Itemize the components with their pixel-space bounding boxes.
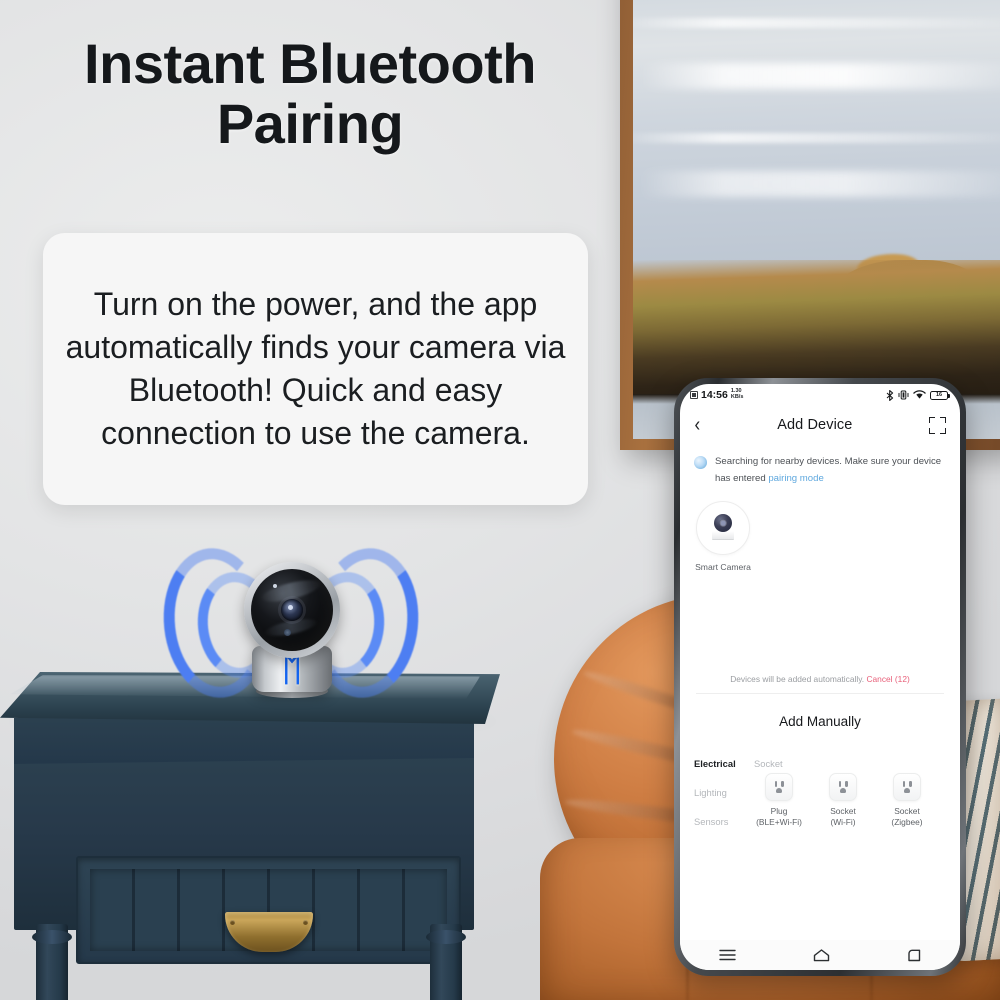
product-label-line2: (Zigbee) [891, 817, 922, 827]
auto-add-note: Devices will be added automatically. Can… [680, 674, 960, 693]
loading-spinner-icon [694, 456, 707, 469]
painting-sky [633, 0, 1000, 299]
pairing-mode-link[interactable]: pairing mode [768, 473, 823, 484]
status-bar: 14:56 1.30 KB/s 16 [680, 384, 960, 406]
vibrate-icon [898, 390, 909, 400]
callout-text: Turn on the power, and the app automatic… [43, 283, 588, 456]
camera-lens-housing [251, 569, 333, 651]
battery-icon: 16 [930, 391, 948, 400]
socket-icon [893, 773, 921, 801]
found-device-smart-camera[interactable]: Smart Camera [694, 501, 752, 574]
phone-screen: 14:56 1.30 KB/s 16 [680, 384, 960, 970]
nightstand [0, 672, 520, 1000]
product-label-line1: Socket [894, 806, 920, 816]
home-icon[interactable] [813, 949, 830, 962]
bluetooth-icon [886, 390, 894, 401]
found-devices-grid: Smart Camera [680, 487, 960, 574]
manual-add-panel: Electrical Lighting Sensors Socket Plug(… [680, 749, 960, 840]
phone-mockup: 14:56 1.30 KB/s 16 [674, 378, 966, 976]
searching-status: Searching for nearby devices. Make sure … [680, 444, 960, 487]
socket-icon [829, 773, 857, 801]
wifi-icon [913, 390, 926, 400]
found-device-label: Smart Camera [695, 562, 751, 574]
product-group-header: Socket [752, 749, 952, 771]
searching-text: Searching for nearby devices. Make sure … [715, 456, 941, 484]
auto-add-text: Devices will be added automatically. [730, 674, 864, 684]
category-item-electrical[interactable]: Electrical [694, 749, 752, 778]
menu-icon[interactable] [719, 949, 736, 961]
product-socket-zigbee[interactable]: Socket(Zigbee) [880, 773, 934, 829]
product-list: Socket Plug(BLE+Wi-Fi) Socket(Wi-Fi) Soc… [752, 749, 960, 836]
nightstand-leg-left [36, 924, 68, 1000]
product-label-line2: (Wi-Fi) [830, 817, 855, 827]
smart-camera-product: ᛖ [168, 544, 414, 716]
qr-scan-icon[interactable] [929, 417, 946, 434]
smart-camera-icon [696, 501, 750, 555]
camera-lens-icon [281, 599, 303, 621]
camera-ir-sensor-icon [284, 629, 291, 636]
socket-icon [765, 773, 793, 801]
cancel-button[interactable]: Cancel [866, 674, 892, 684]
category-item-lighting[interactable]: Lighting [694, 778, 752, 807]
product-label-line2: (BLE+Wi-Fi) [756, 817, 802, 827]
nightstand-leg-right [430, 924, 462, 1000]
category-list: Electrical Lighting Sensors [680, 749, 752, 836]
page-title-add-device: Add Device [777, 417, 852, 433]
android-nav-bar [680, 940, 960, 970]
searching-status-text: Searching for nearby devices. Make sure … [715, 454, 946, 487]
app-bar: ‹ Add Device [680, 406, 960, 444]
product-label-line1: Socket [830, 806, 856, 816]
product-label-line1: Plug [771, 806, 788, 816]
battery-level: 16 [936, 392, 942, 398]
painting-canvas [633, 0, 1000, 439]
back-icon[interactable] [907, 949, 922, 962]
status-bar-time: 14:56 [701, 389, 728, 401]
network-rate-unit: KB/s [731, 394, 744, 400]
camera-head [244, 562, 340, 658]
sim-icon [690, 391, 698, 399]
cancel-countdown: (12) [895, 674, 910, 684]
nightstand-body [14, 750, 474, 930]
add-manually-button[interactable]: Add Manually [680, 694, 960, 749]
nightstand-drawer [76, 856, 461, 964]
back-chevron-icon[interactable]: ‹ [695, 415, 701, 435]
product-plug-ble-wifi[interactable]: Plug(BLE+Wi-Fi) [752, 773, 806, 829]
category-item-sensors[interactable]: Sensors [694, 807, 752, 836]
product-socket-wifi[interactable]: Socket(Wi-Fi) [816, 773, 870, 829]
page-title: Instant Bluetooth Pairing [0, 34, 620, 154]
callout-card: Turn on the power, and the app automatic… [43, 233, 588, 505]
